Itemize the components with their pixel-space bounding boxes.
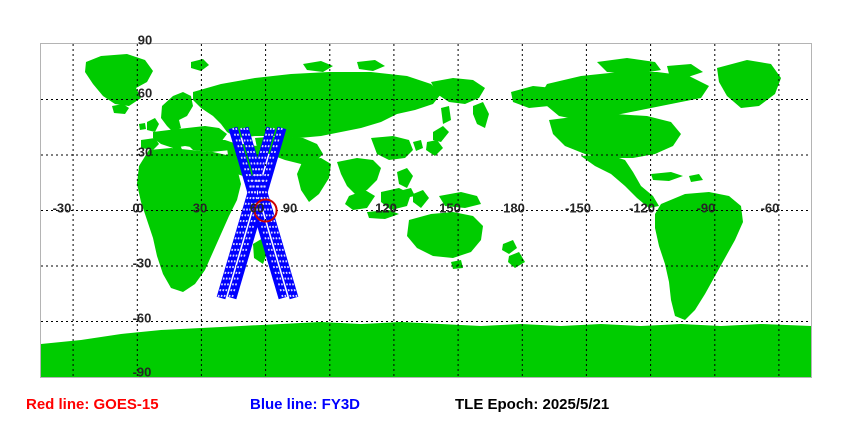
lon-tick-90: 90 xyxy=(283,202,297,215)
lat-tick-30: 30 xyxy=(138,146,152,159)
figure-root: 90 60 30 0 -30 -60 -90 -30 0 30 60 90 12… xyxy=(0,0,850,425)
lon-tick--120: -120 xyxy=(629,202,655,215)
lon-tick-120: 120 xyxy=(375,202,397,215)
legend-bar: Red line: GOES-15 Blue line: FY3D TLE Ep… xyxy=(0,392,850,420)
lon-tick-0: 0 xyxy=(132,202,139,215)
legend-blue-line: Blue line: FY3D xyxy=(250,396,360,414)
legend-red-line: Red line: GOES-15 xyxy=(26,396,159,414)
landmasses xyxy=(41,54,811,377)
lat-tick-60: 60 xyxy=(138,87,152,100)
lon-tick-150: 150 xyxy=(439,202,461,215)
lon-tick-30: 30 xyxy=(193,202,207,215)
lon-tick--90: -90 xyxy=(697,202,716,215)
lat-tick--60: -60 xyxy=(133,312,152,325)
lon-tick--150: -150 xyxy=(565,202,591,215)
legend-tle-epoch: TLE Epoch: 2025/5/21 xyxy=(455,396,609,414)
lon-tick-60: 60 xyxy=(250,202,264,215)
world-map-svg xyxy=(41,44,811,377)
lon-tick--30: -30 xyxy=(53,202,72,215)
lon-tick-180: 180 xyxy=(503,202,525,215)
lat-tick--30: -30 xyxy=(133,257,152,270)
lat-tick-90: 90 xyxy=(138,34,152,47)
lon-tick--60: -60 xyxy=(761,202,780,215)
lat-tick--90: -90 xyxy=(133,366,152,379)
